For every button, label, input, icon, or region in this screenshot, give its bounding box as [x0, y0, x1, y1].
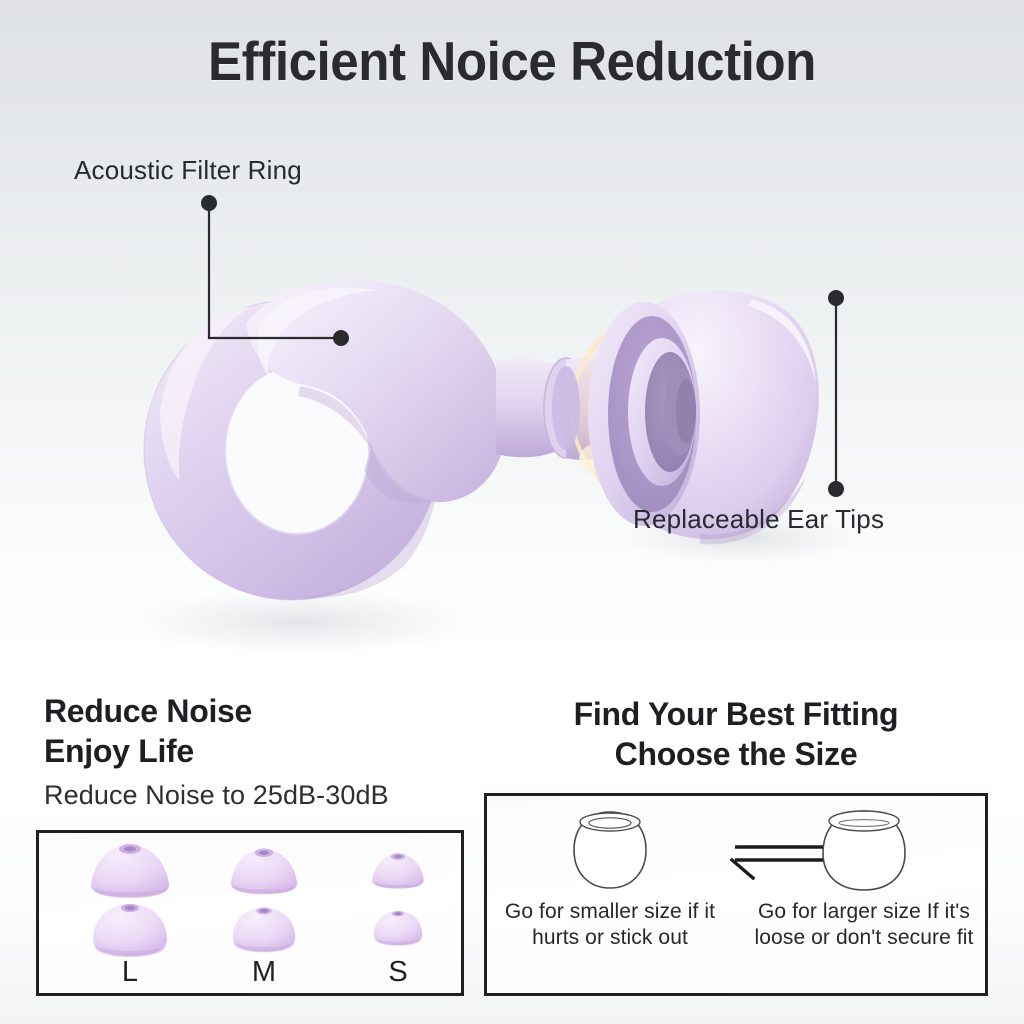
size-column-l: L [65, 839, 195, 993]
callout-dot-filter-ring-end [333, 330, 349, 346]
ear-tip-outline-large-icon [812, 804, 916, 896]
right-section-heading: Find Your Best Fitting Choose the Size [484, 694, 988, 774]
size-column-m-tips [199, 839, 329, 957]
size-label-m: M [199, 957, 329, 987]
right-heading-line2: Choose the Size [484, 734, 988, 774]
ear-tip-dome-icon [224, 905, 304, 954]
size-column-l-tips [65, 839, 195, 957]
size-column-m: M [199, 839, 329, 993]
ear-tip-cone-icon [367, 851, 429, 891]
product-render-svg [0, 110, 1024, 670]
callout-dot-filter-ring-top [201, 195, 217, 211]
left-section-subtitle: Reduce Noise to 25dB-30dB [44, 779, 389, 811]
fitting-guide-box: Go for smaller size if it hurts or stick… [484, 793, 988, 996]
fit-drawing-smaller [495, 804, 725, 899]
ear-tip-outline-small-icon [562, 804, 658, 896]
hero-product-illustration [0, 110, 1024, 670]
size-label-l: L [65, 957, 195, 987]
ear-tip-cone-icon [83, 841, 177, 901]
ear-tip-size-box: L M [36, 830, 464, 996]
left-heading-line2: Enjoy Life [44, 731, 252, 771]
fit-option-larger: Go for larger size If it's loose or don'… [749, 804, 979, 951]
ear-tip-cone-icon [224, 846, 304, 897]
fit-caption-larger: Go for larger size If it's loose or don'… [749, 899, 979, 951]
fit-caption-smaller: Go for smaller size if it hurts or stick… [495, 899, 725, 951]
page-title: Efficient Noice Reduction [36, 30, 988, 92]
ear-tip-dome-icon [367, 909, 429, 947]
callout-label-acoustic-filter-ring: Acoustic Filter Ring [74, 155, 302, 185]
size-column-s: S [333, 839, 463, 993]
infographic-page: Efficient Noice Reduction [0, 0, 1024, 1024]
nozzle-shape [552, 366, 580, 450]
callout-label-replaceable-ear-tips: Replaceable Ear Tips [633, 504, 884, 534]
right-heading-line1: Find Your Best Fitting [484, 694, 988, 734]
left-heading-line1: Reduce Noise [44, 691, 252, 731]
callout-dot-ear-tips-end [828, 481, 844, 497]
size-column-s-tips [333, 839, 463, 957]
callout-dot-ear-tips-top [828, 290, 844, 306]
size-label-s: S [333, 957, 463, 987]
ear-tip-dome-icon [83, 901, 177, 959]
fit-option-smaller: Go for smaller size if it hurts or stick… [495, 804, 725, 951]
left-section-heading: Reduce Noise Enjoy Life [44, 691, 252, 771]
fit-drawing-larger [749, 804, 979, 899]
